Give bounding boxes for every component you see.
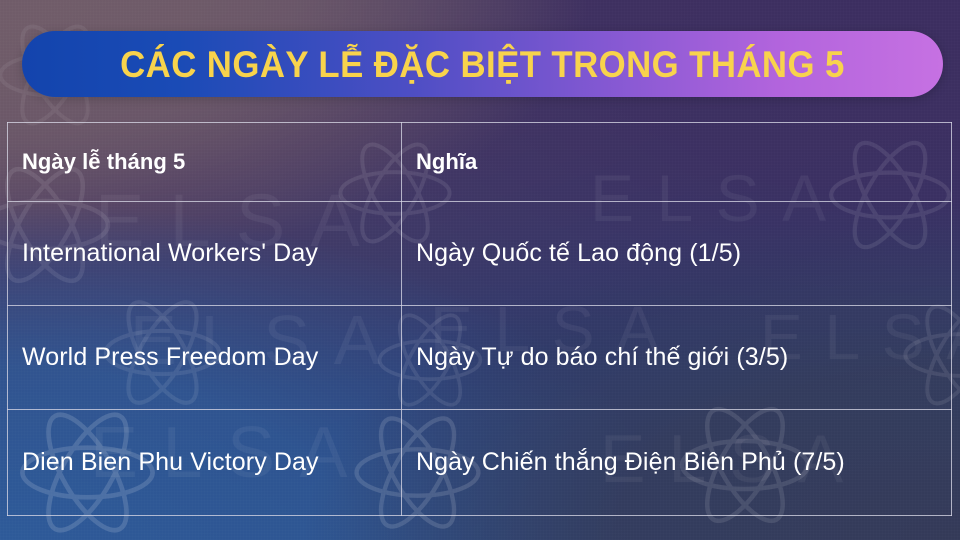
cell-meaning: Ngày Quốc tế Lao động (1/5) [402, 202, 952, 306]
cell-meaning: Ngày Tự do báo chí thế giới (3/5) [402, 306, 952, 410]
column-header-holiday: Ngày lễ tháng 5 [8, 123, 402, 202]
cell-holiday: World Press Freedom Day [8, 306, 402, 410]
table-row: International Workers' Day Ngày Quốc tế … [8, 202, 952, 306]
table-header-row: Ngày lễ tháng 5 Nghĩa [8, 123, 952, 202]
page-title: CÁC NGÀY LỄ ĐẶC BIỆT TRONG THÁNG 5 [120, 46, 845, 83]
column-header-meaning: Nghĩa [402, 123, 952, 202]
holidays-table: Ngày lễ tháng 5 Nghĩa International Work… [7, 122, 952, 516]
cell-meaning: Ngày Chiến thắng Điện Biên Phủ (7/5) [402, 410, 952, 516]
table-row: Dien Bien Phu Victory Day Ngày Chiến thắ… [8, 410, 952, 516]
cell-holiday: Dien Bien Phu Victory Day [8, 410, 402, 516]
table-row: World Press Freedom Day Ngày Tự do báo c… [8, 306, 952, 410]
slide-canvas: ELSA ELSA ELSA ELSA ELSA ELSA ELSA [0, 0, 960, 540]
cell-holiday: International Workers' Day [8, 202, 402, 306]
title-banner: CÁC NGÀY LỄ ĐẶC BIỆT TRONG THÁNG 5 [22, 31, 943, 97]
